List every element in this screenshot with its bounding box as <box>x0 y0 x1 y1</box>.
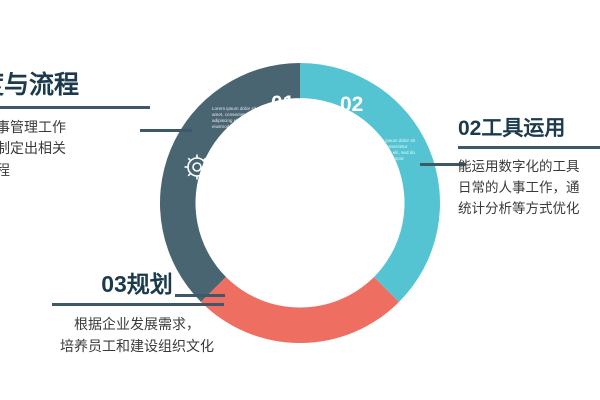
callout-01-line-2: 问题，制定出相关 <box>0 138 194 160</box>
segment-02-number: 02 <box>340 93 363 116</box>
callout-02-line-3: 统计分析等方式优化 <box>458 199 600 220</box>
callout-03: 03规划 根据企业发展需求， 培养员工和建设组织文化 <box>22 272 252 358</box>
segment-03-number: 03 <box>209 237 232 260</box>
callout-02-rule <box>458 146 600 149</box>
callout-02-title: 02工具运用 <box>458 117 600 140</box>
segment-01-number: 01 <box>271 92 295 115</box>
callout-02: 02工具运用 能运用数字化的工具 日常的人事工作，通 统计分析等方式优化 <box>458 117 600 220</box>
chart-up-icon <box>310 262 332 282</box>
callout-01-rule <box>0 106 150 109</box>
callout-01: 制度与流程 业在人事管理工作 问题，制定出相关 度和流程 <box>0 72 194 182</box>
callout-03-line-1: 根据企业发展需求， <box>22 314 252 336</box>
callout-02-line-2: 日常的人事工作，通 <box>458 178 600 199</box>
target-icon <box>373 173 395 195</box>
callout-01-line-3: 度和流程 <box>0 160 194 182</box>
segment-03-body: Lorem ipsum dolor sit amet, consectetur … <box>260 266 305 289</box>
diagram-canvas: 01 Lorem ipsum dolor sit amet, consectet… <box>0 0 600 400</box>
callout-02-line-1: 能运用数字化的工具 <box>458 157 600 178</box>
callout-01-title: 制度与流程 <box>0 72 194 100</box>
callout-01-line-1: 业在人事管理工作 <box>0 117 194 139</box>
callout-03-line-2: 培养员工和建设组织文化 <box>22 336 252 358</box>
callout-03-rule <box>52 303 224 306</box>
donut-center-hole <box>242 145 358 261</box>
segment-01-body: Lorem ipsum dolor sit amet, consectetur … <box>212 106 257 129</box>
callout-03-title: 03规划 <box>22 272 252 297</box>
